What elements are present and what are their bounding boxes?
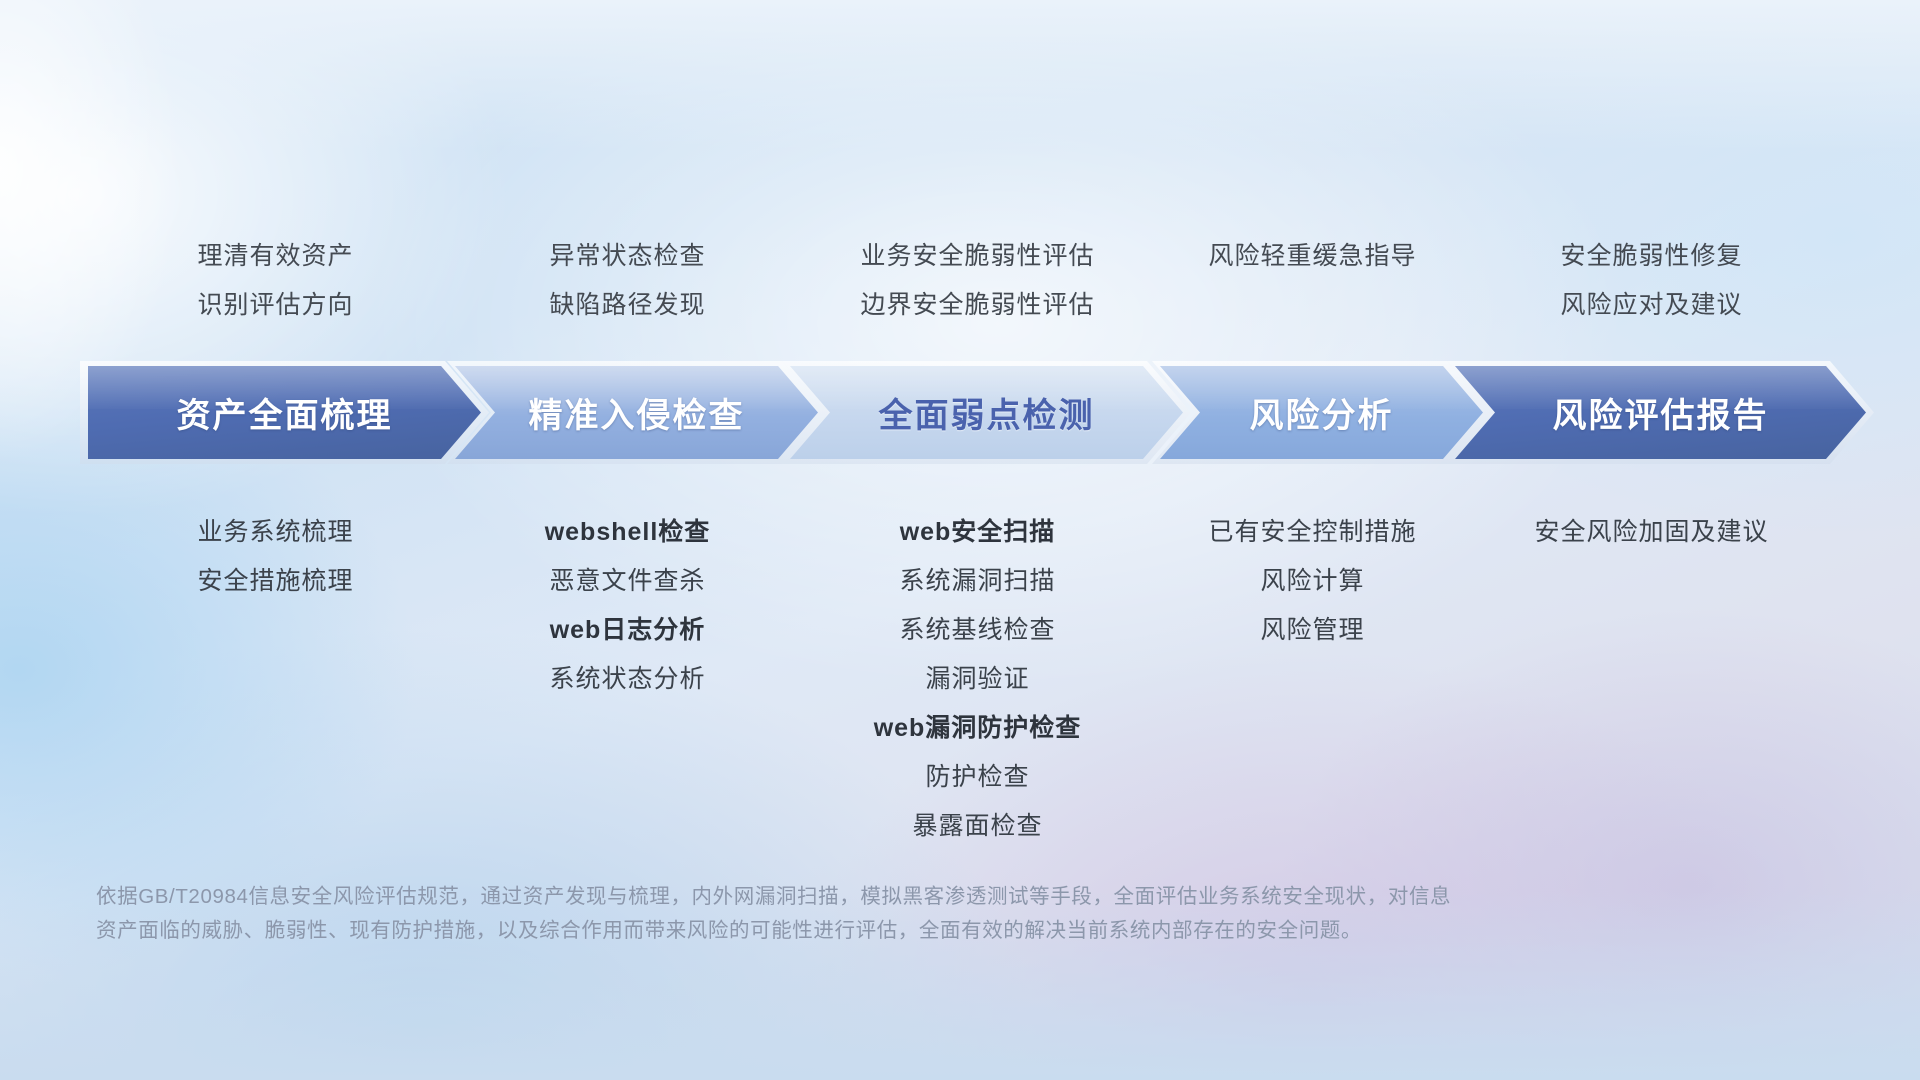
- chevron-title: 风险分析: [1250, 388, 1394, 437]
- top-label: 识别评估方向: [88, 281, 463, 330]
- list-item: 安全措施梳理: [88, 557, 463, 606]
- list-item: 业务系统梳理: [88, 508, 463, 557]
- chevron-stage-1[interactable]: 资产全面梳理: [88, 366, 481, 459]
- top-label: 缺陷路径发现: [455, 281, 800, 330]
- chevron-stage-5[interactable]: 风险评估报告: [1455, 366, 1866, 459]
- list-item: web安全扫描: [790, 508, 1165, 557]
- footer-line-1: 依据GB/T20984信息安全风险评估规范，通过资产发现与梳理，内外网漏洞扫描，…: [96, 880, 1656, 914]
- top-label: 安全脆弱性修复: [1455, 232, 1848, 281]
- list-item: 安全风险加固及建议: [1455, 508, 1848, 557]
- top-label-group-3: 业务安全脆弱性评估边界安全脆弱性评估: [790, 232, 1165, 330]
- chevron-stage-3[interactable]: 全面弱点检测: [790, 366, 1183, 459]
- list-item: 防护检查: [790, 753, 1165, 802]
- list-item: webshell检查: [455, 508, 800, 557]
- list-group-2: webshell检查恶意文件查杀web日志分析系统状态分析: [455, 508, 800, 704]
- footer-line-2: 资产面临的威胁、脆弱性、现有防护措施，以及综合作用而带来风险的可能性进行评估，全…: [96, 914, 1656, 948]
- chevron-title: 资产全面梳理: [177, 388, 393, 437]
- top-label: 边界安全脆弱性评估: [790, 281, 1165, 330]
- list-item: 风险管理: [1160, 606, 1465, 655]
- chevron-title: 精准入侵检查: [529, 388, 745, 437]
- top-label: 风险应对及建议: [1455, 281, 1848, 330]
- top-label: 理清有效资产: [88, 232, 463, 281]
- top-label-group-4: 风险轻重缓急指导: [1160, 232, 1465, 281]
- list-group-1: 业务系统梳理安全措施梳理: [88, 508, 463, 606]
- top-label-group-2: 异常状态检查缺陷路径发现: [455, 232, 800, 330]
- list-item: 系统状态分析: [455, 655, 800, 704]
- list-group-3: web安全扫描系统漏洞扫描系统基线检查漏洞验证web漏洞防护检查防护检查暴露面检…: [790, 508, 1165, 851]
- list-item: 漏洞验证: [790, 655, 1165, 704]
- list-item: 已有安全控制措施: [1160, 508, 1465, 557]
- footer-description: 依据GB/T20984信息安全风险评估规范，通过资产发现与梳理，内外网漏洞扫描，…: [96, 880, 1656, 948]
- list-item: 恶意文件查杀: [455, 557, 800, 606]
- chevron-stage-2[interactable]: 精准入侵检查: [455, 366, 818, 459]
- list-item: 系统基线检查: [790, 606, 1165, 655]
- top-label: 风险轻重缓急指导: [1160, 232, 1465, 281]
- list-item: web日志分析: [455, 606, 800, 655]
- top-label-group-5: 安全脆弱性修复风险应对及建议: [1455, 232, 1848, 330]
- chevron-title: 全面弱点检测: [879, 388, 1095, 437]
- list-group-4: 已有安全控制措施风险计算风险管理: [1160, 508, 1465, 655]
- process-diagram: 理清有效资产识别评估方向异常状态检查缺陷路径发现业务安全脆弱性评估边界安全脆弱性…: [0, 0, 1920, 1080]
- top-label: 异常状态检查: [455, 232, 800, 281]
- top-label-group-1: 理清有效资产识别评估方向: [88, 232, 463, 330]
- list-item: 风险计算: [1160, 557, 1465, 606]
- list-item: 暴露面检查: [790, 802, 1165, 851]
- chevron-title: 风险评估报告: [1553, 388, 1769, 437]
- list-group-5: 安全风险加固及建议: [1455, 508, 1848, 557]
- chevron-stage-4[interactable]: 风险分析: [1160, 366, 1483, 459]
- top-label: 业务安全脆弱性评估: [790, 232, 1165, 281]
- chevron-banner: 资产全面梳理精准入侵检查全面弱点检测风险分析风险评估报告: [88, 366, 1848, 459]
- list-item: 系统漏洞扫描: [790, 557, 1165, 606]
- list-item: web漏洞防护检查: [790, 704, 1165, 753]
